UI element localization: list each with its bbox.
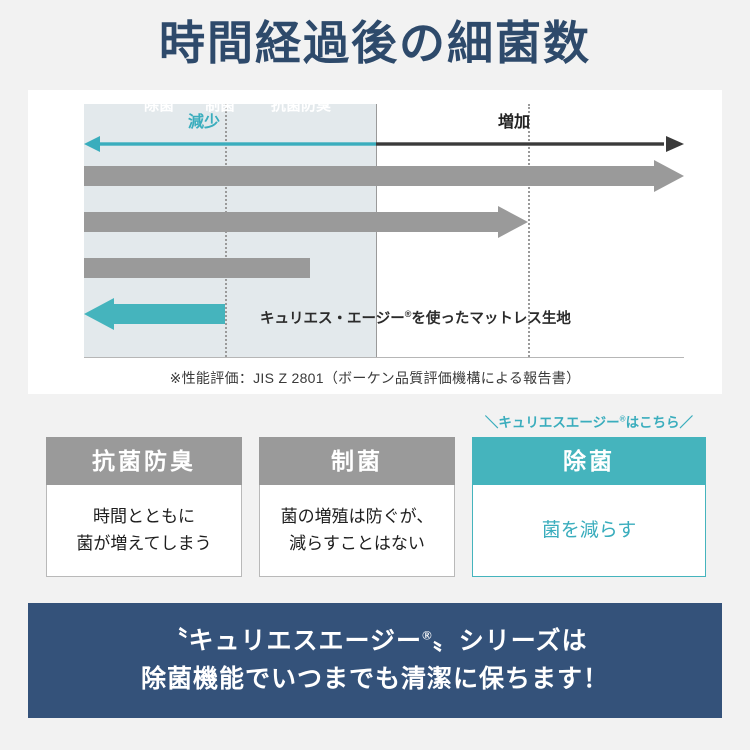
footer-banner: 〝キュリエスエージー®〟シリーズは 除菌機能でいつまでも清潔に保ちます！ bbox=[28, 603, 722, 718]
card-body-line1: 菌を減らす bbox=[542, 516, 637, 545]
bar-label-normal: 通常品 bbox=[420, 90, 465, 122]
chart-baseline bbox=[84, 357, 684, 358]
comparison-card-antibacterial[interactable]: 抗菌防臭 時間とともに 菌が増えてしまう bbox=[46, 437, 242, 577]
page-title: 時間経過後の細菌数 bbox=[0, 14, 750, 74]
fabric-annotation: キュリエス・エージー®を使ったマットレス生地 bbox=[260, 298, 571, 330]
axis-arrows bbox=[28, 136, 722, 152]
comparison-card-sanitizing[interactable]: 除菌 菌を減らす bbox=[472, 437, 706, 577]
curies-age-flag-label: ＼キュリエスエージー®はこちら／ bbox=[472, 411, 706, 431]
bar-label-sanitizing: 除菌 bbox=[144, 90, 174, 122]
flag-prefix: ＼キュリエスエージー bbox=[485, 415, 620, 430]
card-header-bacteriostatic: 制菌 bbox=[259, 437, 455, 485]
card-body-antibacterial: 時間とともに 菌が増えてしまう bbox=[46, 485, 242, 577]
comparison-cards: ＼キュリエスエージー®はこちら／ 抗菌防臭 時間とともに 菌が増えてしまう 制菌… bbox=[46, 437, 706, 577]
bar-bacteriostatic bbox=[84, 258, 310, 278]
bar-row-normal bbox=[28, 160, 722, 192]
card-header-antibacterial: 抗菌防臭 bbox=[46, 437, 242, 485]
card-header-sanitizing: 除菌 bbox=[472, 437, 706, 485]
card-body-sanitizing: 菌を減らす bbox=[472, 485, 706, 577]
flag-suffix: はこちら／ bbox=[626, 415, 694, 430]
fabric-annotation-suffix: を使ったマットレス生地 bbox=[411, 311, 571, 327]
footer-line-2: 除菌機能でいつまでも清潔に保ちます！ bbox=[141, 661, 609, 699]
card-body-line1: 時間とともに bbox=[93, 504, 195, 530]
card-body-bacteriostatic: 菌の増殖は防ぐが、 減らすことはない bbox=[259, 485, 455, 577]
bar-label-bacteriostatic: 制菌 bbox=[205, 90, 235, 122]
bar-arrow-normal bbox=[84, 160, 684, 192]
footer-line-1: 〝キュリエスエージー®〟シリーズは bbox=[163, 623, 588, 661]
bar-arrow-antibacterial bbox=[84, 206, 528, 238]
bar-row-bacteriostatic bbox=[28, 252, 722, 284]
card-body-line2: 菌が増えてしまう bbox=[76, 531, 211, 557]
bar-arrow-sanitizing bbox=[84, 298, 225, 330]
chart-footnote: ※性能評価：JIS Z 2801（ボーケン品質評価機構による報告書） bbox=[28, 368, 722, 388]
bar-row-antibacterial bbox=[28, 206, 722, 238]
increase-axis-arrow-icon bbox=[376, 136, 684, 152]
card-body-line1: 菌の増殖は防ぐが、 bbox=[281, 504, 434, 530]
comparison-card-bacteriostatic[interactable]: 制菌 菌の増殖は防ぐが、 減らすことはない bbox=[259, 437, 455, 577]
axis-label-increase: 増加 bbox=[498, 108, 530, 132]
registered-mark: ® bbox=[422, 628, 433, 643]
footer-line1-prefix: 〝キュリエスエージー bbox=[163, 628, 423, 655]
decrease-axis-arrow-icon bbox=[84, 136, 376, 152]
bar-label-antibacterial: 抗菌防臭 bbox=[271, 90, 331, 122]
footer-line1-suffix: 〟シリーズは bbox=[433, 628, 588, 655]
fabric-annotation-prefix: キュリエス・エージー bbox=[260, 311, 405, 327]
chart-card: 減少 増加 通常品 抗菌防臭 制菌 bbox=[28, 90, 722, 394]
card-body-line2: 減らすことはない bbox=[289, 531, 425, 557]
